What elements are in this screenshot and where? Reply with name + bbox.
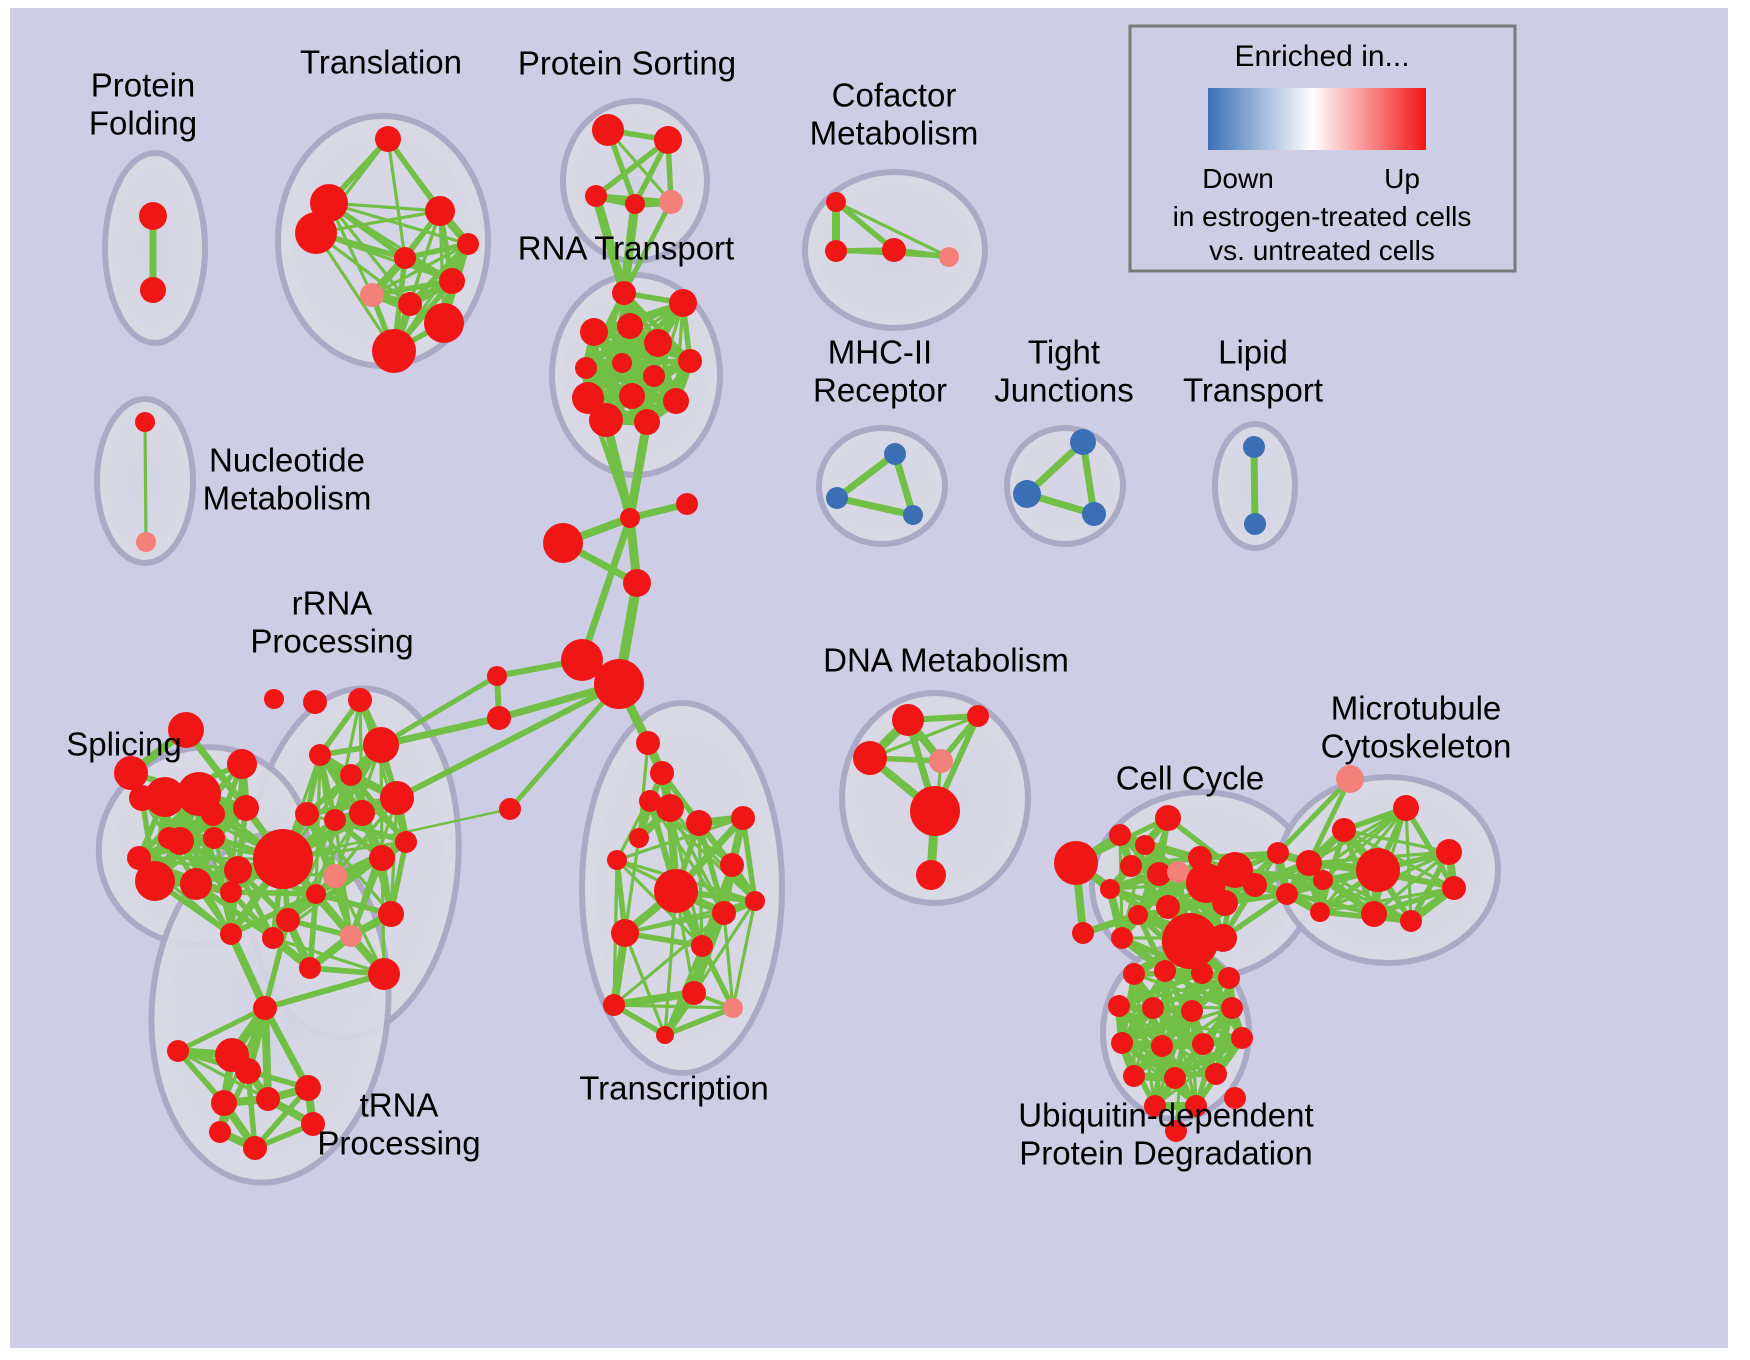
gene-set-node[interactable] <box>1400 910 1422 932</box>
gene-set-node[interactable] <box>487 706 511 730</box>
gene-set-node[interactable] <box>340 925 362 947</box>
cluster-label-microtubule-cytoskeleton: Cytoskeleton <box>1321 728 1512 765</box>
gene-set-node[interactable] <box>620 508 640 528</box>
cluster-label-transcription: Transcription <box>579 1070 769 1107</box>
gene-set-node[interactable] <box>916 860 946 890</box>
gene-set-node[interactable] <box>585 185 607 207</box>
cluster-label-microtubule-cytoskeleton: Microtubule <box>1331 690 1502 727</box>
gene-set-node[interactable] <box>1361 901 1387 927</box>
legend-caption-line2: vs. untreated cells <box>1209 235 1435 266</box>
cluster-label-rrna-processing: Processing <box>250 623 413 660</box>
gene-set-node[interactable] <box>295 802 319 826</box>
gene-set-node[interactable] <box>1142 997 1164 1019</box>
legend-caption-line1: in estrogen-treated cells <box>1173 201 1472 232</box>
gene-set-node[interactable] <box>691 935 713 957</box>
gene-set-node[interactable] <box>1109 824 1131 846</box>
gene-set-node[interactable] <box>295 212 337 254</box>
gene-set-node[interactable] <box>643 365 665 387</box>
legend-title: Enriched in... <box>1234 40 1409 73</box>
gene-set-node[interactable] <box>224 856 252 884</box>
gene-set-node[interactable] <box>1231 1027 1253 1049</box>
gene-set-node[interactable] <box>180 868 212 900</box>
gene-set-node[interactable] <box>589 403 623 437</box>
gene-set-node[interactable] <box>656 794 684 822</box>
cluster-label-lipid-transport: Transport <box>1183 372 1323 409</box>
gene-set-node[interactable] <box>276 908 300 932</box>
gene-set-node[interactable] <box>884 443 906 465</box>
cluster-label-nucleotide-metabolism: Metabolism <box>203 480 372 517</box>
gene-set-node[interactable] <box>140 277 166 303</box>
gene-set-node[interactable] <box>1155 805 1181 831</box>
gene-set-node[interactable] <box>233 795 259 821</box>
gene-set-node[interactable] <box>209 1121 231 1143</box>
cluster-label-rrna-processing: rRNA <box>292 585 373 622</box>
gene-set-node[interactable] <box>1393 795 1419 821</box>
gene-set-node[interactable] <box>139 202 167 230</box>
gene-set-node[interactable] <box>1209 924 1237 952</box>
gene-set-node[interactable] <box>1123 963 1145 985</box>
gene-set-node[interactable] <box>580 318 608 346</box>
gene-set-node[interactable] <box>745 891 765 911</box>
cluster-label-cofactor-metabolism: Metabolism <box>810 115 979 152</box>
gene-set-node[interactable] <box>1436 839 1462 865</box>
cluster-label-trna-processing: Processing <box>317 1125 480 1162</box>
cluster-label-tight-junctions: Tight <box>1028 334 1100 371</box>
gene-set-node[interactable] <box>203 827 225 849</box>
gene-set-node[interactable] <box>372 329 416 373</box>
gene-set-node[interactable] <box>457 233 479 255</box>
cluster-label-dna-metabolism: DNA Metabolism <box>823 642 1069 679</box>
network-svg: ProteinFoldingTranslationNucleotideMetab… <box>10 8 1728 1348</box>
gene-set-node[interactable] <box>669 289 697 317</box>
gene-set-node[interactable] <box>967 705 989 727</box>
network-edge <box>265 1008 268 1099</box>
gene-set-node[interactable] <box>853 741 887 775</box>
cluster-label-trna-processing: tRNA <box>360 1087 439 1124</box>
gene-set-node[interactable] <box>659 190 683 214</box>
gene-set-node[interactable] <box>1243 873 1267 897</box>
gene-set-node[interactable] <box>375 126 401 152</box>
gene-set-node[interactable] <box>1111 1032 1133 1054</box>
gene-set-node[interactable] <box>1164 1067 1186 1089</box>
gene-set-node[interactable] <box>340 764 362 786</box>
gene-set-node[interactable] <box>136 532 156 552</box>
gene-set-node[interactable] <box>1310 902 1330 922</box>
gene-set-node[interactable] <box>1013 480 1041 508</box>
cluster-label-protein-folding: Protein <box>91 67 196 104</box>
gene-set-node[interactable] <box>1151 1035 1173 1057</box>
gene-set-node[interactable] <box>262 927 284 949</box>
gene-set-node[interactable] <box>295 1075 321 1101</box>
gene-set-node[interactable] <box>617 313 643 339</box>
legend-panel: Enriched in... Down Up in estrogen-treat… <box>1130 26 1515 271</box>
gene-set-node[interactable] <box>220 923 242 945</box>
gene-set-node[interactable] <box>363 727 399 763</box>
gene-set-node[interactable] <box>603 994 625 1016</box>
gene-set-node[interactable] <box>398 292 422 316</box>
gene-set-node[interactable] <box>1120 855 1142 877</box>
gene-set-node[interactable] <box>910 786 960 836</box>
gene-set-node[interactable] <box>1072 922 1094 944</box>
gene-set-node[interactable] <box>594 659 644 709</box>
gene-set-node[interactable] <box>368 958 400 990</box>
cluster-label-splicing: Splicing <box>66 726 182 763</box>
gene-set-node[interactable] <box>625 194 645 214</box>
gene-set-node[interactable] <box>676 493 698 515</box>
gene-set-node[interactable] <box>439 268 465 294</box>
gene-set-node[interactable] <box>201 802 225 826</box>
gene-set-node[interactable] <box>323 864 347 888</box>
enrichment-network-figure: ProteinFoldingTranslationNucleotideMetab… <box>10 8 1728 1348</box>
gene-set-node[interactable] <box>678 349 702 373</box>
gene-set-node[interactable] <box>1244 513 1266 535</box>
gene-set-node[interactable] <box>731 806 755 830</box>
gene-set-node[interactable] <box>1100 879 1120 899</box>
gene-set-node[interactable] <box>607 850 627 870</box>
gene-set-node[interactable] <box>903 505 923 525</box>
gene-set-node[interactable] <box>720 853 744 877</box>
gene-set-node[interactable] <box>1181 1000 1203 1022</box>
gene-set-node[interactable] <box>1243 436 1265 458</box>
cluster-hull-mhc-ii-receptor <box>819 428 945 544</box>
gene-set-node[interactable] <box>629 828 649 848</box>
gene-set-node[interactable] <box>543 523 583 563</box>
gene-set-node[interactable] <box>1205 1063 1227 1085</box>
gene-set-node[interactable] <box>1267 842 1289 864</box>
gene-set-node[interactable] <box>682 981 706 1005</box>
gene-set-node[interactable] <box>360 283 384 307</box>
gene-set-node[interactable] <box>306 884 326 904</box>
gene-set-node[interactable] <box>892 704 924 736</box>
gene-set-node[interactable] <box>1070 429 1096 455</box>
gene-set-node[interactable] <box>623 569 651 597</box>
gene-set-node[interactable] <box>644 329 672 357</box>
gene-set-node[interactable] <box>575 357 597 379</box>
gene-set-node[interactable] <box>592 114 624 146</box>
gene-set-node[interactable] <box>380 781 414 815</box>
gene-set-node[interactable] <box>1108 995 1130 1017</box>
gene-set-node[interactable] <box>1212 890 1238 916</box>
gene-set-node[interactable] <box>1154 960 1176 982</box>
cluster-label-rna-transport: RNA Transport <box>518 230 734 267</box>
gene-set-node[interactable] <box>324 809 346 831</box>
network-edge <box>1254 447 1255 524</box>
legend-low-label: Down <box>1202 163 1274 194</box>
network-edge <box>145 422 146 542</box>
cluster-label-tight-junctions: Junctions <box>994 372 1133 409</box>
gene-set-node[interactable] <box>1332 818 1356 842</box>
gene-set-node[interactable] <box>425 196 455 226</box>
gene-set-node[interactable] <box>1313 870 1333 890</box>
gene-set-node[interactable] <box>349 800 375 826</box>
gene-set-node[interactable] <box>395 831 417 853</box>
gene-set-node[interactable] <box>394 247 416 269</box>
gene-set-node[interactable] <box>253 829 313 889</box>
gene-set-node[interactable] <box>135 861 175 901</box>
gene-set-node[interactable] <box>135 412 155 432</box>
gene-set-node[interactable] <box>235 1058 261 1084</box>
gene-set-node[interactable] <box>1054 841 1098 885</box>
gene-set-node[interactable] <box>1218 967 1240 989</box>
cluster-label-mhc-ii-receptor: Receptor <box>813 372 947 409</box>
cluster-label-ubiquitin-protein-degradation: Protein Degradation <box>1019 1135 1313 1172</box>
gene-set-node[interactable] <box>929 749 953 773</box>
gene-set-node[interactable] <box>227 749 257 779</box>
gene-set-node[interactable] <box>650 761 674 785</box>
gene-set-node[interactable] <box>299 957 321 979</box>
gene-set-node[interactable] <box>825 240 847 262</box>
network-edge <box>231 892 316 894</box>
gene-set-node[interactable] <box>826 487 848 509</box>
gene-set-node[interactable] <box>636 731 660 755</box>
gene-set-node[interactable] <box>939 247 959 267</box>
gene-set-node[interactable] <box>686 810 712 836</box>
gene-set-node[interactable] <box>378 901 404 927</box>
gene-set-node[interactable] <box>826 192 846 212</box>
gene-set-node[interactable] <box>1356 848 1400 892</box>
cluster-label-nucleotide-metabolism: Nucleotide <box>209 442 365 479</box>
gene-set-node[interactable] <box>303 690 327 714</box>
gene-set-node[interactable] <box>167 1040 189 1062</box>
gene-set-node[interactable] <box>1123 1065 1145 1087</box>
gene-set-node[interactable] <box>158 827 180 849</box>
gene-set-node[interactable] <box>1082 502 1106 526</box>
gene-set-node[interactable] <box>634 409 660 435</box>
cluster-label-lipid-transport: Lipid <box>1218 334 1288 371</box>
cluster-label-cofactor-metabolism: Cofactor <box>832 77 957 114</box>
gene-set-node[interactable] <box>654 126 682 154</box>
gene-set-node[interactable] <box>348 688 372 712</box>
gene-set-node[interactable] <box>253 996 277 1020</box>
gene-set-node[interactable] <box>1167 861 1189 883</box>
legend-color-gradient-bar <box>1208 88 1426 150</box>
gene-set-node[interactable] <box>487 666 507 686</box>
gene-set-node[interactable] <box>712 901 736 925</box>
cluster-label-mhc-ii-receptor: MHC-II <box>828 334 932 371</box>
gene-set-node[interactable] <box>663 388 689 414</box>
gene-set-node[interactable] <box>220 881 242 903</box>
gene-set-node[interactable] <box>1111 927 1133 949</box>
gene-set-node[interactable] <box>1156 895 1180 919</box>
gene-set-node[interactable] <box>369 845 395 871</box>
gene-set-node[interactable] <box>256 1087 280 1111</box>
gene-set-node[interactable] <box>1336 765 1364 793</box>
gene-set-node[interactable] <box>1135 835 1155 855</box>
gene-set-node[interactable] <box>309 744 331 766</box>
gene-set-node[interactable] <box>499 798 521 820</box>
gene-set-node[interactable] <box>656 1026 674 1044</box>
gene-set-node[interactable] <box>619 383 645 409</box>
gene-set-node[interactable] <box>612 353 632 373</box>
gene-set-node[interactable] <box>1221 997 1243 1019</box>
cluster-label-protein-sorting: Protein Sorting <box>518 45 736 82</box>
gene-set-node[interactable] <box>1128 905 1148 925</box>
gene-set-node[interactable] <box>1192 1033 1214 1055</box>
cluster-label-cell-cycle: Cell Cycle <box>1116 760 1265 797</box>
gene-set-node[interactable] <box>264 689 284 709</box>
cluster-label-translation: Translation <box>300 44 462 81</box>
gene-set-node[interactable] <box>611 919 639 947</box>
cluster-label-ubiquitin-protein-degradation: Ubiquitin-dependent <box>1018 1097 1313 1134</box>
gene-set-node[interactable] <box>1442 876 1466 900</box>
gene-set-node[interactable] <box>723 998 743 1018</box>
cluster-label-protein-folding: Folding <box>89 105 197 142</box>
gene-set-node[interactable] <box>211 1090 237 1116</box>
gene-set-node[interactable] <box>424 303 464 343</box>
gene-set-node[interactable] <box>882 238 906 262</box>
gene-set-node[interactable] <box>612 281 636 305</box>
gene-set-node[interactable] <box>654 869 698 913</box>
gene-set-node[interactable] <box>243 1136 267 1160</box>
gene-set-node[interactable] <box>1276 883 1298 905</box>
legend-high-label: Up <box>1384 163 1420 194</box>
gene-set-node[interactable] <box>1191 962 1213 984</box>
